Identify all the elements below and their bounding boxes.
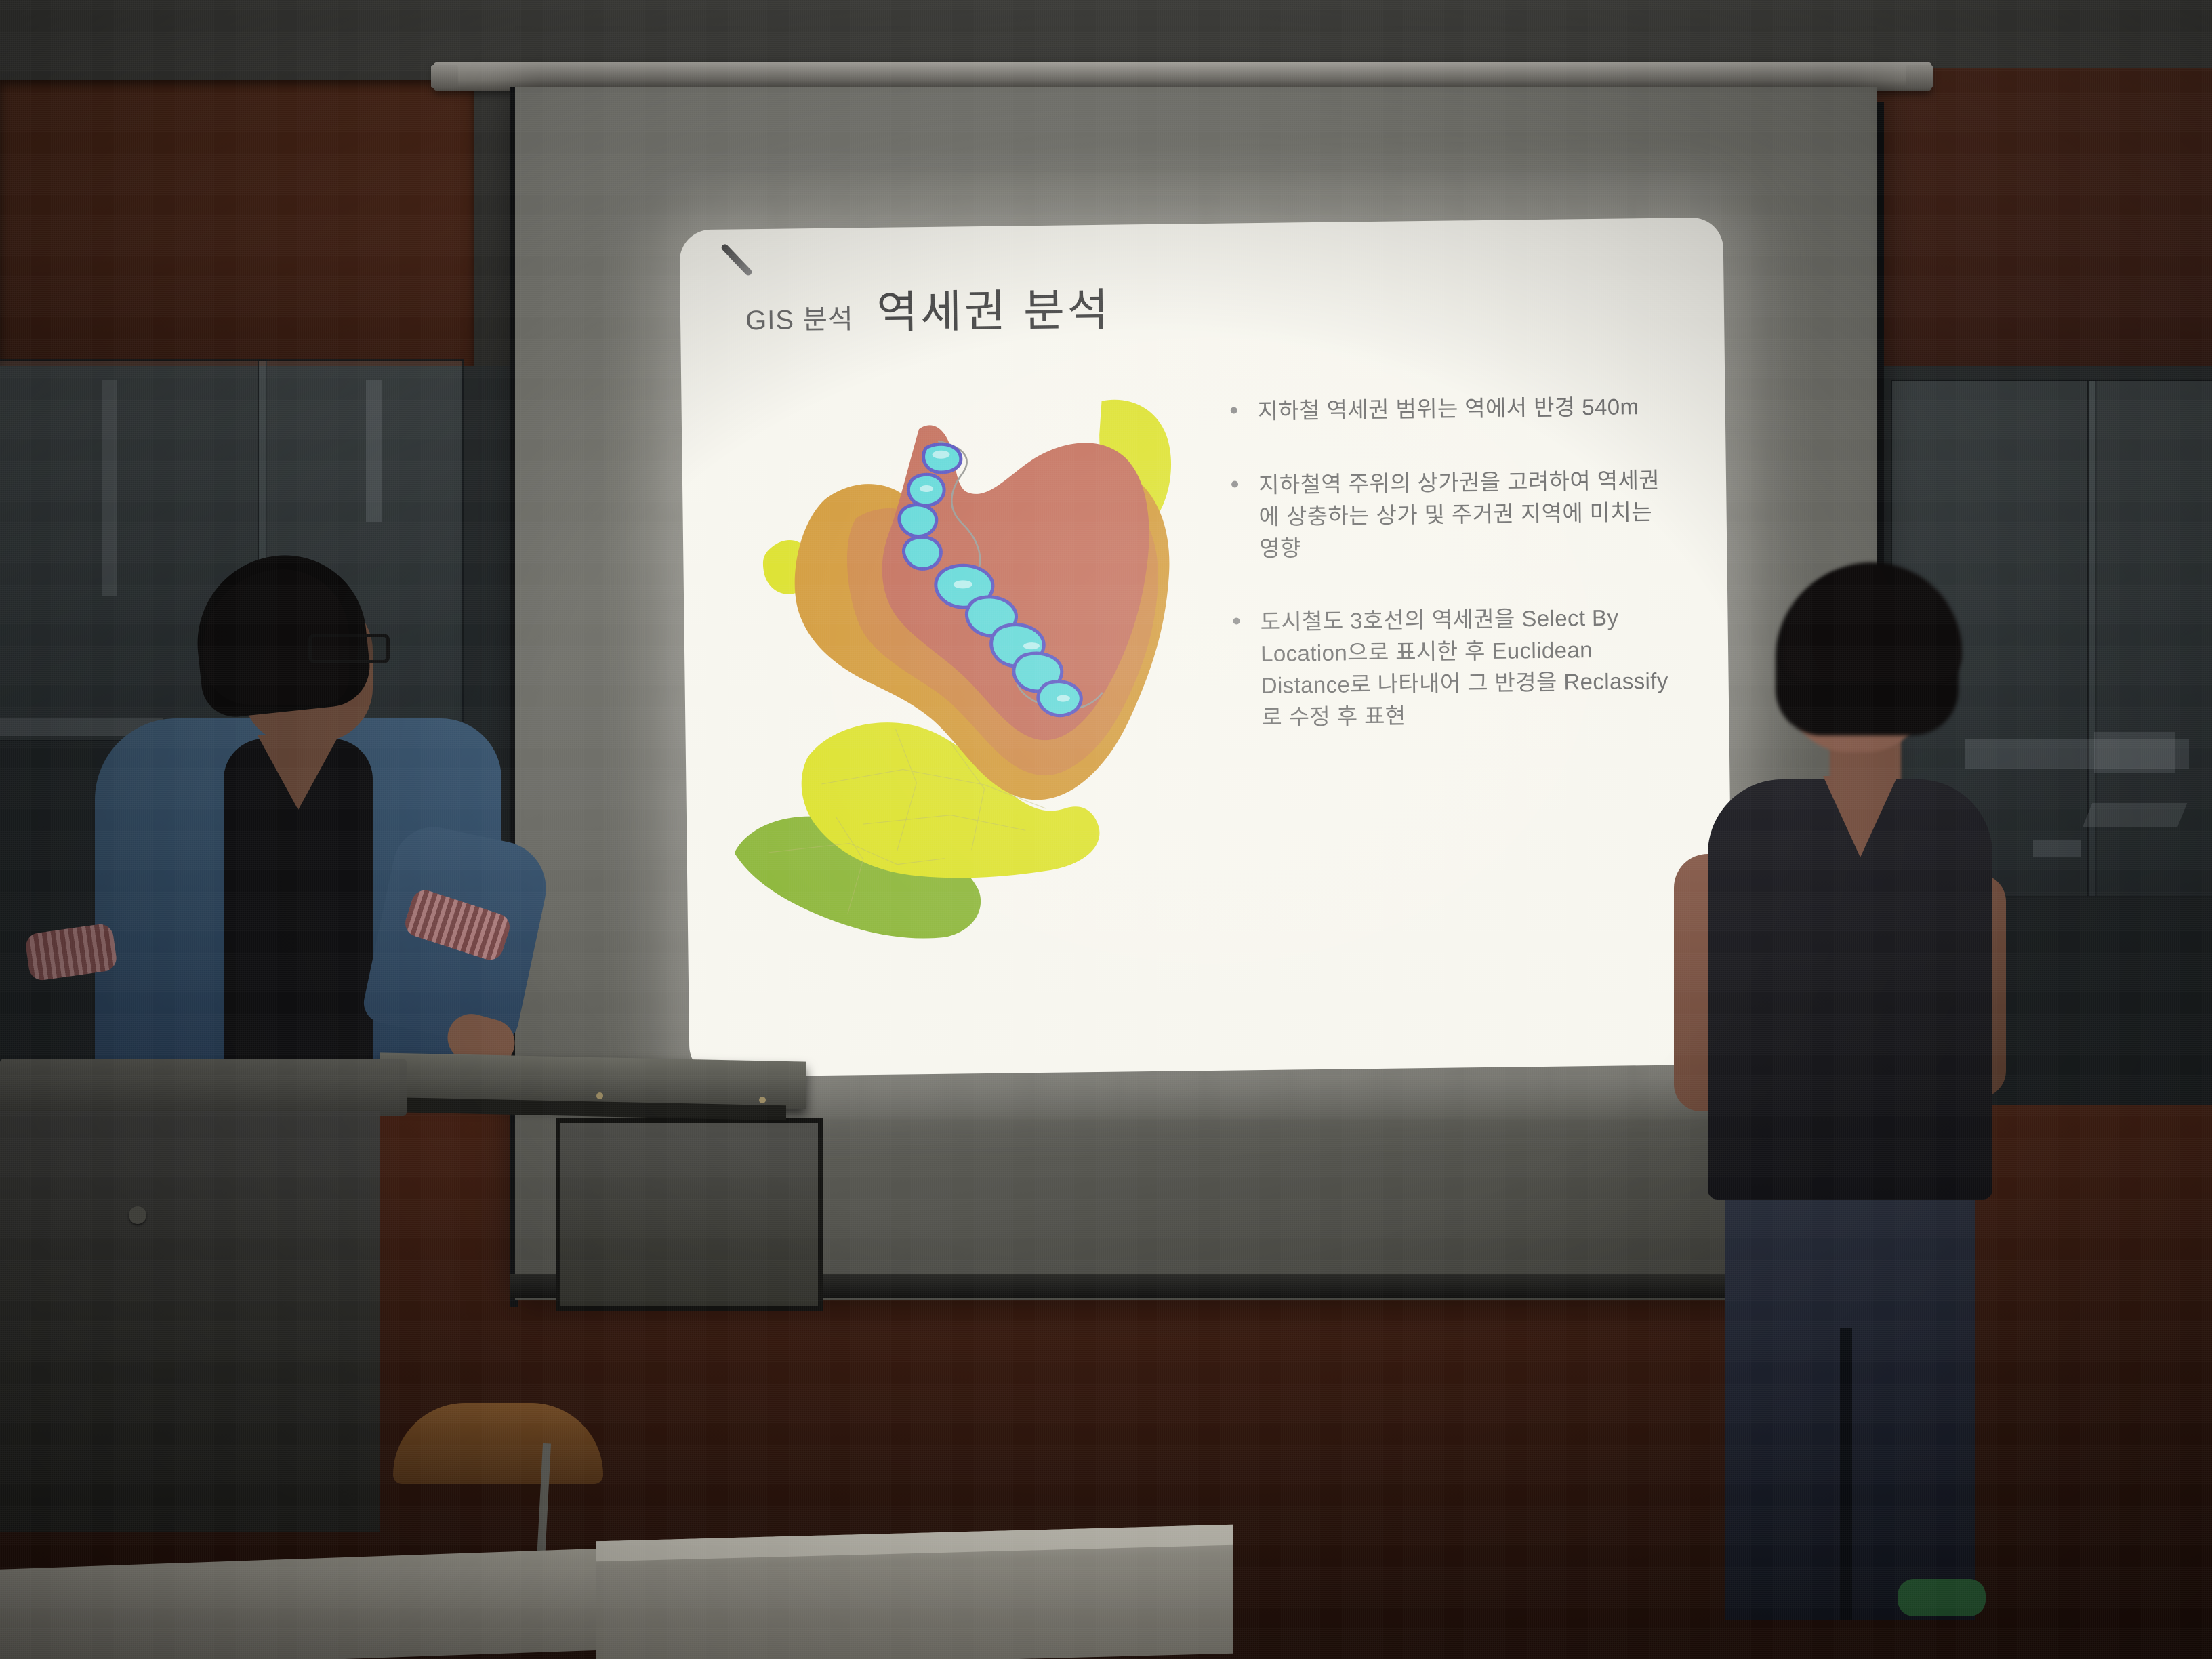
presenter-right-leg-gap (1840, 1328, 1852, 1620)
projected-slide: GIS 분석 역세권 분석 (679, 218, 1733, 1078)
glass-sheen-left-2 (366, 380, 382, 522)
presenter-right-shoe (1898, 1579, 1986, 1616)
bullet-text: 도시철도 3호선의 역세권을 Select By Location으로 표시한 … (1260, 602, 1681, 734)
glass-sheen-left-1 (102, 380, 117, 596)
gis-map-figure (722, 373, 1189, 941)
screen-housing-end-right (1906, 65, 1933, 88)
list-item: 지하철 역세권 범위는 역에서 반경 540m (1230, 390, 1678, 428)
bullet-dot-icon (1231, 480, 1238, 487)
wood-panel-left (0, 80, 474, 402)
glass-sheen-right-2 (2094, 732, 2175, 773)
wooden-chair-seat (393, 1403, 603, 1484)
bullet-dot-icon (1231, 407, 1237, 413)
glass-sheen-right-3 (2083, 803, 2188, 827)
bullet-dot-icon (1233, 618, 1240, 625)
slide-title-row: GIS 분석 역세권 분석 (745, 274, 1111, 344)
bullet-text: 지하철역 주위의 상가권을 고려하여 역세권에 상충하는 상가 및 주거권 지역… (1258, 464, 1680, 565)
list-item: 지하철역 주위의 상가권을 고려하여 역세권에 상충하는 상가 및 주거권 지역… (1231, 464, 1680, 565)
slide-bullet-list: 지하철 역세권 범위는 역에서 반경 540m 지하철역 주위의 상가권을 고려… (1230, 390, 1682, 776)
podium-knob-icon (129, 1206, 146, 1224)
podium-body (0, 1111, 380, 1532)
podium-top-surface (0, 1059, 407, 1116)
slide-title-main: 역세권 분석 (876, 274, 1111, 342)
list-item: 도시철도 3호선의 역세권을 Select By Location으로 표시한 … (1233, 602, 1681, 734)
slide-title-kicker: GIS 분석 (745, 297, 854, 337)
glass-sheen-right-4 (2033, 840, 2081, 857)
screen-housing-end-left (431, 65, 458, 88)
gis-map-svg (722, 373, 1189, 941)
screenshot-stage: GIS 분석 역세권 분석 (0, 0, 2212, 1659)
shelf-screw-icon (596, 1092, 603, 1099)
shelf-screw-icon (759, 1097, 766, 1103)
monitor-rear-panel (556, 1118, 823, 1311)
title-accent-dash-icon (720, 243, 754, 276)
presenter-right-black-tee (1708, 779, 1992, 1200)
bullet-text: 지하철 역세권 범위는 역에서 반경 540m (1257, 391, 1639, 428)
presenter-left-glasses-icon (308, 634, 390, 663)
